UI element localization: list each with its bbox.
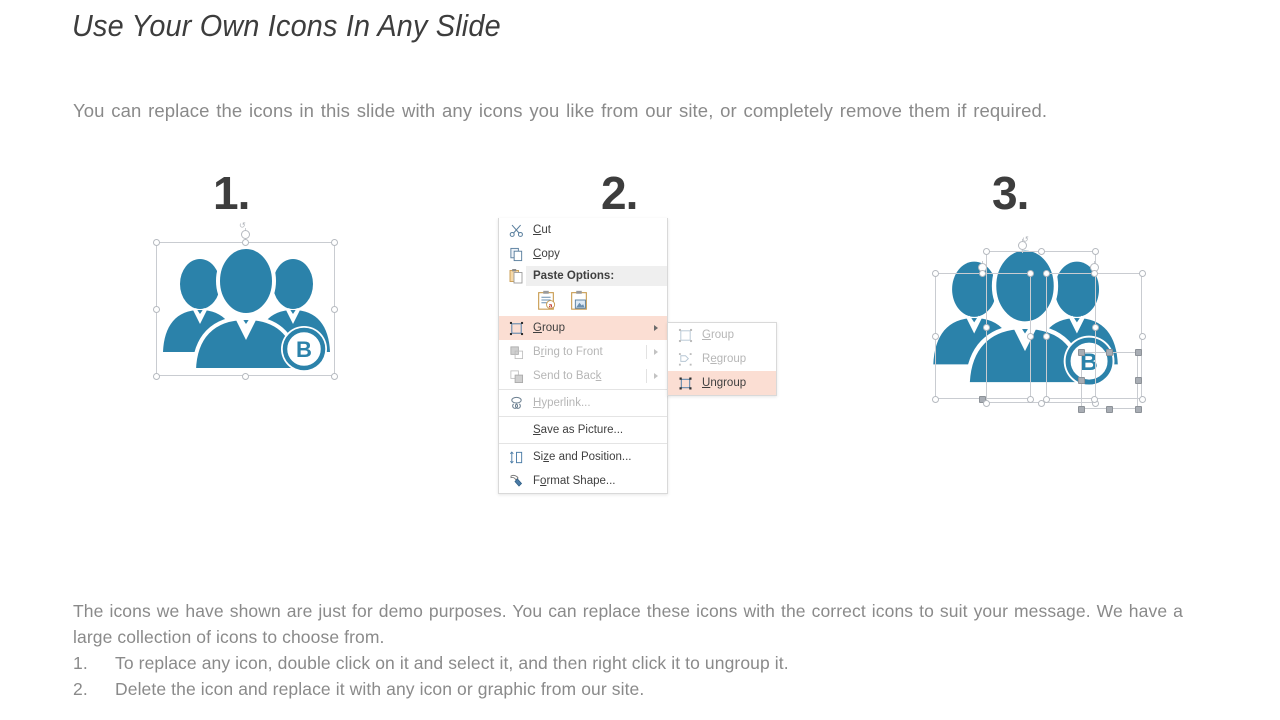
- sel-handle[interactable]: [1135, 349, 1142, 356]
- selection-handle-bl[interactable]: [153, 373, 160, 380]
- sel-handle[interactable]: [1078, 349, 1085, 356]
- list-item-text: Delete the icon and replace it with any …: [115, 679, 644, 699]
- sel-handle[interactable]: [932, 396, 939, 403]
- scissors-icon: [507, 221, 525, 239]
- sel-handle[interactable]: [1092, 324, 1099, 331]
- menu-item-label: Size and Position...: [533, 451, 631, 463]
- chevron-right-icon: [654, 373, 658, 379]
- submenu-item-ungroup[interactable]: Ungroup: [668, 371, 776, 395]
- sel-handle[interactable]: [983, 400, 990, 407]
- selection-handle-tr[interactable]: [331, 239, 338, 246]
- menu-item-label: Save as Picture...: [533, 424, 623, 436]
- sel-handle[interactable]: [1043, 270, 1050, 277]
- menu-item-label: Copy: [533, 248, 560, 260]
- menu-item-label: Group: [533, 322, 565, 334]
- footer-paragraph: The icons we have shown are just for dem…: [73, 598, 1183, 650]
- sel-handle[interactable]: [1043, 333, 1050, 340]
- list-item-number: 1.: [73, 650, 88, 676]
- list-item: 2. Delete the icon and replace it with a…: [73, 676, 1183, 702]
- sel-handle[interactable]: [1139, 270, 1146, 277]
- rotation-handle[interactable]: [241, 230, 250, 239]
- slide-canvas: Use Your Own Icons In Any Slide You can …: [0, 0, 1280, 720]
- sel-handle[interactable]: [1038, 248, 1045, 255]
- copy-icon: [507, 245, 525, 263]
- list-item-number: 2.: [73, 676, 88, 702]
- paste-icon: [507, 267, 525, 285]
- context-menu[interactable]: Cut Copy Pa: [498, 218, 668, 494]
- menu-separator: [499, 389, 667, 390]
- selection-handle-br[interactable]: [331, 373, 338, 380]
- selection-handle-mr[interactable]: [331, 306, 338, 313]
- sel-handle[interactable]: [1027, 333, 1034, 340]
- sel-handle[interactable]: [1091, 396, 1098, 403]
- submenu-item-label: Group: [702, 329, 734, 341]
- format-shape-icon: [507, 472, 525, 490]
- sel-handle[interactable]: [932, 333, 939, 340]
- submenu-item-label: Regroup: [702, 353, 746, 365]
- submenu-item-regroup[interactable]: Regroup: [668, 347, 776, 371]
- step-number-2: 2.: [601, 170, 637, 216]
- sel-handle[interactable]: [1139, 396, 1146, 403]
- list-item-text: To replace any icon, double click on it …: [115, 653, 789, 673]
- submenu-divider: [646, 345, 647, 359]
- send-to-back-icon: [507, 367, 525, 385]
- selection-handle-bc[interactable]: [242, 373, 249, 380]
- paste-keep-text-icon[interactable]: a: [535, 289, 557, 314]
- menu-separator: [499, 443, 667, 444]
- submenu-item-label: Ungroup: [702, 377, 746, 389]
- group-icon: [676, 326, 694, 344]
- sel-handle[interactable]: [979, 270, 986, 277]
- sel-handle[interactable]: [1091, 270, 1098, 277]
- menu-item-bring-to-front[interactable]: Bring to Front: [499, 340, 667, 364]
- regroup-icon: [676, 350, 694, 368]
- paste-picture-icon[interactable]: [568, 289, 590, 314]
- menu-item-hyperlink[interactable]: Hyperlink...: [499, 391, 667, 415]
- sel-handle[interactable]: [932, 270, 939, 277]
- menu-item-format-shape[interactable]: Format Shape...: [499, 469, 667, 493]
- chevron-right-icon: [654, 349, 658, 355]
- menu-item-send-to-back[interactable]: Send to Back: [499, 364, 667, 388]
- ungroup-icon: [676, 374, 694, 392]
- selection-handle-tc[interactable]: [242, 239, 249, 246]
- sel-handle[interactable]: [1027, 396, 1034, 403]
- step-number-1: 1.: [213, 170, 249, 216]
- group-icon: [507, 319, 525, 337]
- list-item: 1. To replace any icon, double click on …: [73, 650, 1183, 676]
- sel-handle[interactable]: [1078, 406, 1085, 413]
- menu-item-group[interactable]: Group: [499, 316, 667, 340]
- rotation-arrow-icon: ↺: [1022, 236, 1029, 244]
- group-submenu[interactable]: Group Regroup: [667, 322, 777, 396]
- paste-options-row[interactable]: a: [499, 286, 667, 316]
- selection-frame-badge[interactable]: [1081, 352, 1138, 409]
- sel-handle[interactable]: [1139, 333, 1146, 340]
- sel-handle[interactable]: [1135, 377, 1142, 384]
- svg-text:B: B: [296, 337, 312, 362]
- svg-text:a: a: [549, 302, 553, 309]
- sel-handle[interactable]: [1043, 396, 1050, 403]
- submenu-item-group[interactable]: Group: [668, 323, 776, 347]
- selection-handle-ml[interactable]: [153, 306, 160, 313]
- sel-handle[interactable]: [1027, 270, 1034, 277]
- menu-item-cut[interactable]: Cut: [499, 218, 667, 242]
- sel-handle[interactable]: [1092, 248, 1099, 255]
- size-position-icon: [507, 448, 525, 466]
- menu-item-label: Format Shape...: [533, 475, 615, 487]
- menu-item-save-as-picture[interactable]: Save as Picture...: [499, 418, 667, 442]
- bring-to-front-icon: [507, 343, 525, 361]
- people-group-icon[interactable]: B: [160, 248, 332, 372]
- paste-options-label: Paste Options:: [526, 266, 667, 286]
- page-title: Use Your Own Icons In Any Slide: [72, 8, 501, 44]
- sel-handle[interactable]: [1078, 377, 1085, 384]
- submenu-divider: [646, 369, 647, 383]
- menu-item-copy[interactable]: Copy: [499, 242, 667, 266]
- sel-handle[interactable]: [1106, 406, 1113, 413]
- menu-item-label: Bring to Front: [533, 346, 603, 358]
- menu-item-label: Cut: [533, 224, 551, 236]
- sel-handle[interactable]: [1135, 406, 1142, 413]
- menu-item-paste-options: Paste Options:: [499, 266, 667, 286]
- menu-separator: [499, 416, 667, 417]
- sel-handle[interactable]: [983, 324, 990, 331]
- chevron-right-icon: [654, 325, 658, 331]
- rotation-arrow-icon: ↺: [239, 222, 246, 230]
- sel-handle[interactable]: [983, 248, 990, 255]
- step-number-3: 3.: [992, 170, 1028, 216]
- menu-item-size-and-position[interactable]: Size and Position...: [499, 445, 667, 469]
- footer-list: 1. To replace any icon, double click on …: [73, 650, 1183, 702]
- intro-paragraph: You can replace the icons in this slide …: [73, 96, 1185, 126]
- selection-handle-tl[interactable]: [153, 239, 160, 246]
- footer-text-block: The icons we have shown are just for dem…: [73, 598, 1183, 702]
- hyperlink-icon: [507, 394, 525, 412]
- menu-item-label: Send to Back: [533, 370, 601, 382]
- sel-handle[interactable]: [1106, 349, 1113, 356]
- menu-item-label: Hyperlink...: [533, 397, 591, 409]
